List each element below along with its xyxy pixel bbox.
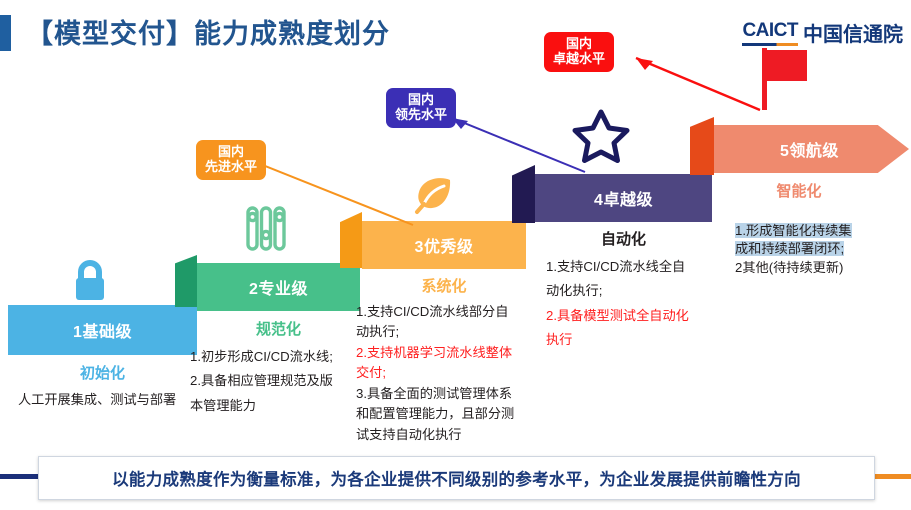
callout-advanced-line2: 先进水平 bbox=[205, 160, 257, 175]
logo-name-text: 中国信通院 bbox=[803, 18, 903, 47]
level-5-body: 1.形成智能化持续集 成和持续部署闭环; 2其他(待持续更新) bbox=[735, 222, 905, 277]
connector-excellent-head bbox=[636, 58, 653, 70]
level-5-step[interactable]: 5领航级 bbox=[714, 125, 909, 173]
level-3-side-face bbox=[340, 212, 362, 268]
callout-excellent-line1: 国内 bbox=[553, 37, 605, 52]
level-3-body-line: 试支持自动化执行 bbox=[356, 425, 536, 445]
level-4-body-line: 1.支持CI/CD流水线全自 bbox=[546, 255, 724, 279]
level-1-subtitle: 初始化 bbox=[8, 362, 197, 383]
callout-leading-line1: 国内 bbox=[395, 93, 447, 108]
level-3-body-line: 1.支持CI/CD流水线部分自 bbox=[356, 302, 536, 322]
level-5-subtitle: 智能化 bbox=[714, 180, 884, 201]
callout-advanced[interactable]: 国内 先进水平 bbox=[196, 140, 266, 180]
level-2-body: 1.初步形成CI/CD流水线; 2.具备相应管理规范及版 本管理能力 bbox=[190, 345, 372, 418]
flag-cloth bbox=[767, 50, 807, 81]
level-2-body-line: 2.具备相应管理规范及版 bbox=[190, 369, 372, 393]
level-2-body-line: 本管理能力 bbox=[190, 394, 372, 418]
level-3-label: 3优秀级 bbox=[415, 233, 474, 257]
callout-advanced-line1: 国内 bbox=[205, 145, 257, 160]
level-5-body-line-highlight: 成和持续部署闭环; bbox=[735, 240, 905, 258]
level-1-step[interactable]: 1基础级 bbox=[8, 305, 197, 355]
sliders-icon bbox=[243, 205, 289, 253]
level-4-body-line: 动化执行; bbox=[546, 279, 724, 303]
level-4-body-line-red: 执行 bbox=[546, 328, 724, 352]
level-5-body-line: 2其他(待持续更新) bbox=[735, 259, 905, 277]
level-2-body-line: 1.初步形成CI/CD流水线; bbox=[190, 345, 372, 369]
level-4-body: 1.支持CI/CD流水线全自 动化执行; 2.具备模型测试全自动化 执行 bbox=[546, 255, 724, 353]
level-3-body-line-red: 交付; bbox=[356, 363, 536, 383]
callout-leading-line2: 领先水平 bbox=[395, 108, 447, 123]
level-1-label: 1基础级 bbox=[73, 318, 132, 342]
slide-canvas: 【模型交付】能力成熟度划分 CAICT 中国信通院 1基础级 初始化 人工开展集… bbox=[0, 0, 911, 510]
caict-logo: CAICT 中国信通院 bbox=[742, 18, 903, 47]
level-3-body-line: 和配置管理能力，且部分测 bbox=[356, 404, 536, 424]
level-3-step[interactable]: 3优秀级 bbox=[362, 221, 526, 269]
leaf-icon bbox=[411, 176, 455, 216]
level-2-label: 2专业级 bbox=[249, 275, 308, 299]
level-4-label: 4卓越级 bbox=[594, 186, 653, 210]
level-2-step[interactable]: 2专业级 bbox=[197, 263, 360, 311]
level-3-body-line: 3.具备全面的测试管理体系 bbox=[356, 384, 536, 404]
lock-icon bbox=[68, 258, 112, 304]
level-1-body: 人工开展集成、测试与部署 bbox=[18, 390, 186, 410]
level-4-side-face bbox=[512, 165, 535, 223]
level-4-step[interactable]: 4卓越级 bbox=[535, 174, 712, 222]
star-icon bbox=[572, 108, 630, 164]
callout-leading[interactable]: 国内 领先水平 bbox=[386, 88, 456, 128]
level-3-subtitle: 系统化 bbox=[362, 275, 526, 296]
level-5-body-line-highlight: 1.形成智能化持续集 bbox=[735, 222, 905, 240]
title-accent-bar bbox=[0, 15, 11, 51]
level-5-side-face bbox=[690, 117, 714, 175]
level-2-side-face bbox=[175, 255, 197, 307]
level-3-body: 1.支持CI/CD流水线部分自 动执行; 2.支持机器学习流水线整体 交付; 3… bbox=[356, 302, 536, 445]
connector-excellent bbox=[636, 58, 760, 110]
level-4-body-line-red: 2.具备模型测试全自动化 bbox=[546, 304, 724, 328]
connector-leading bbox=[452, 118, 585, 172]
summary-banner: 以能力成熟度作为衡量标准，为各企业提供不同级别的参考水平，为企业发展提供前瞻性方… bbox=[38, 456, 875, 500]
level-3-body-line: 动执行; bbox=[356, 322, 536, 342]
level-3-body-line-red: 2.支持机器学习流水线整体 bbox=[356, 343, 536, 363]
callout-excellent[interactable]: 国内 卓越水平 bbox=[544, 32, 614, 72]
flag-icon bbox=[762, 48, 808, 110]
level-4-subtitle: 自动化 bbox=[535, 228, 712, 249]
callout-excellent-line2: 卓越水平 bbox=[553, 52, 605, 67]
level-5-label: 5领航级 bbox=[780, 137, 839, 161]
summary-banner-text: 以能力成熟度作为衡量标准，为各企业提供不同级别的参考水平，为企业发展提供前瞻性方… bbox=[112, 466, 801, 490]
logo-mark-text: CAICT bbox=[742, 20, 798, 46]
title-text: 【模型交付】能力成熟度划分 bbox=[26, 12, 390, 51]
level-2-subtitle: 规范化 bbox=[197, 318, 360, 339]
